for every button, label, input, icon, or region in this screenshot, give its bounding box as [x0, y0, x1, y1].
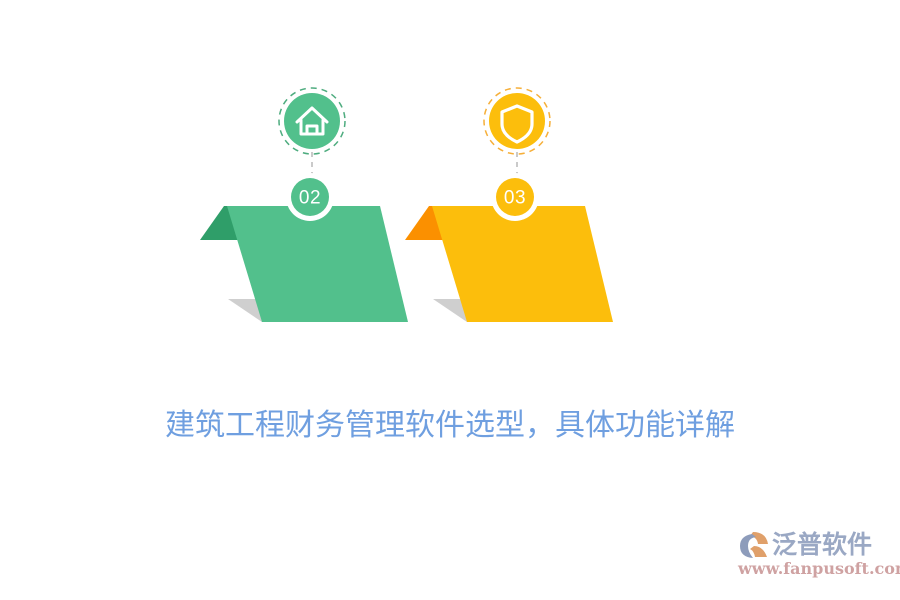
infographic-graphics: 02 — [0, 0, 900, 600]
fanpu-logo-icon — [738, 530, 770, 560]
step-02-number: 02 — [299, 188, 321, 209]
step-group-03[interactable]: 03 — [405, 88, 613, 322]
watermark-brand: 泛普软件 — [772, 530, 872, 560]
watermark: 泛普软件 www.fanpusoft.com — [738, 528, 888, 584]
step-03-number: 03 — [504, 188, 526, 209]
watermark-brand-row: 泛普软件 — [738, 528, 888, 562]
step-02-icon-circle[interactable] — [284, 93, 340, 149]
step-group-02[interactable]: 02 — [200, 88, 408, 322]
watermark-url: www.fanpusoft.com — [738, 559, 888, 578]
page-title: 建筑工程财务管理软件选型，具体功能详解 — [0, 404, 900, 448]
infographic-canvas: 02 — [0, 0, 900, 600]
